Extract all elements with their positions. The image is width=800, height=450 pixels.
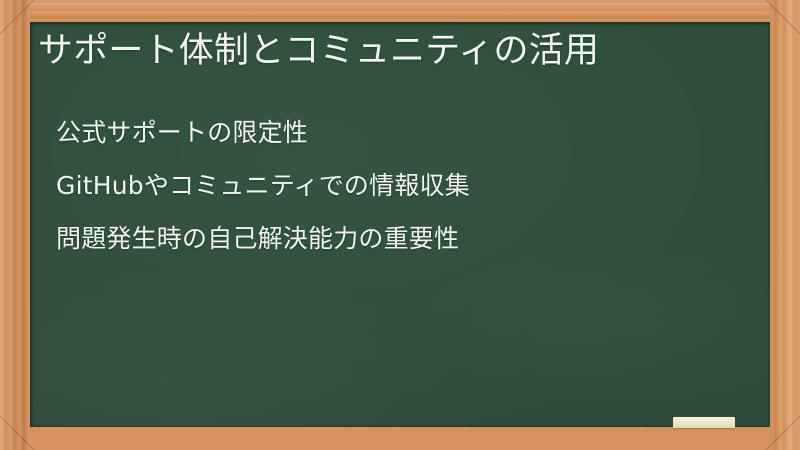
list-item: GitHubやコミュニティでの情報収集 — [56, 159, 756, 212]
frame-rail-top — [0, 0, 800, 22]
green-chalkboard: サポート体制とコミュニティの活用 公式サポートの限定性 GitHubやコミュニテ… — [30, 22, 770, 427]
slide-title: サポート体制とコミュニティの活用 — [38, 26, 758, 76]
frame-rail-left — [0, 0, 30, 450]
chalkboard-slide: サポート体制とコミュニティの活用 公式サポートの限定性 GitHubやコミュニテ… — [0, 0, 800, 450]
frame-rail-right — [770, 0, 800, 450]
frame-rail-bottom — [0, 428, 800, 450]
list-item: 公式サポートの限定性 — [56, 106, 756, 159]
bullet-list: 公式サポートの限定性 GitHubやコミュニティでの情報収集 問題発生時の自己解… — [56, 106, 756, 265]
list-item: 問題発生時の自己解決能力の重要性 — [56, 212, 756, 265]
chalk-stick — [673, 417, 735, 428]
